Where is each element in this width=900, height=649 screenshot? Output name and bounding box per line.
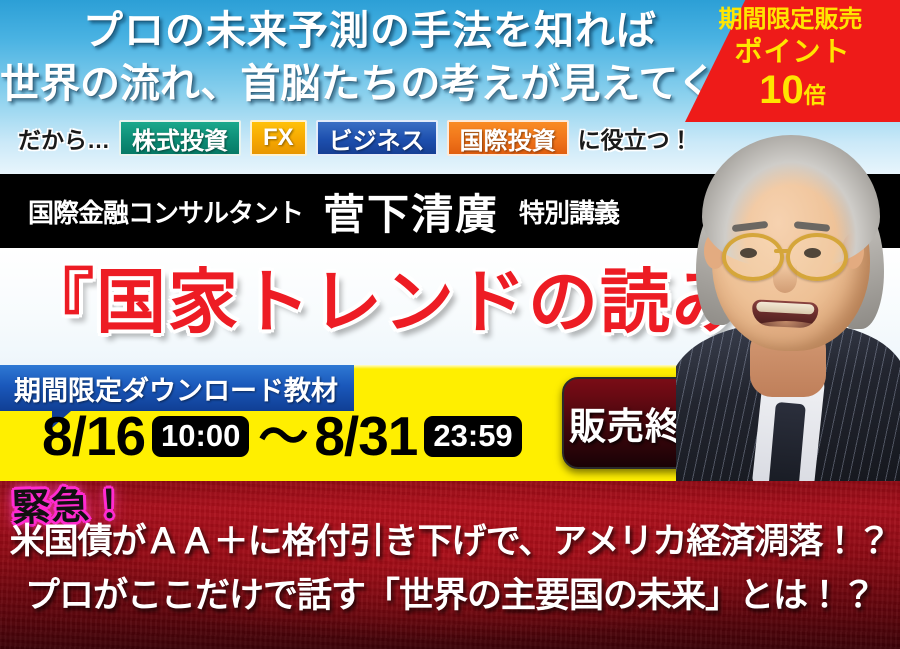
point-badge-line-1: 期間限定販売 (685, 8, 896, 32)
point-badge-line-2: ポイント (685, 38, 900, 66)
headline: プロの未来予測の手法を知れば 世界の流れ、首脳たちの考えが見えてくる！ (0, 4, 740, 110)
offer-start-date: 8/16 (42, 409, 145, 464)
speaker-name: 菅下清廣 (323, 181, 499, 242)
category-tag-row: だから… 株式投資 FX ビジネス 国際投資 に役立つ！ (18, 118, 693, 158)
tag-business[interactable]: ビジネス (316, 120, 438, 156)
portrait-teeth (756, 301, 814, 314)
footer-section: 緊急！ 米国債がＡＡ＋に格付引き下げで、アメリカ経済凋落！？ プロがここだけで話… (0, 481, 900, 649)
speaker-lecture-label: 特別講義 (519, 193, 619, 230)
offer-period-dates: 8/16 10:00 〜 8/31 23:59 (42, 409, 524, 464)
tag-fx[interactable]: FX (250, 120, 307, 156)
promo-banner: プロの未来予測の手法を知れば 世界の流れ、首脳たちの考えが見えてくる！ 期間限定… (0, 0, 900, 649)
point-badge-amount: 10 (759, 68, 804, 112)
footer-copy: 米国債がＡＡ＋に格付引き下げで、アメリカ経済凋落！？ プロがここだけで話す「世界… (0, 515, 900, 623)
product-title: 『国家トレンドの読み方』 (24, 256, 724, 352)
tag-international-investment[interactable]: 国際投資 (447, 120, 569, 156)
footer-line-2: プロがここだけで話す「世界の主要国の未来」とは！？ (0, 569, 900, 623)
point-campaign-badge: 期間限定販売 ポイント 10倍 (685, 0, 900, 122)
headline-line-1: プロの未来予測の手法を知れば (0, 4, 740, 57)
offer-end-date: 8/31 (314, 409, 417, 464)
headline-line-2: 世界の流れ、首脳たちの考えが見えてくる！ (0, 57, 740, 110)
point-badge-amount-row: 10倍 (685, 70, 900, 110)
portrait-glasses-bridge (774, 249, 790, 253)
offer-end-time: 23:59 (424, 416, 521, 457)
offer-start-time: 10:00 (152, 416, 249, 457)
speaker-portrait (676, 115, 900, 481)
tag-row-prefix: だから… (18, 121, 110, 155)
speaker-title: 国際金融コンサルタント (28, 193, 303, 230)
offer-date-separator: 〜 (258, 412, 307, 462)
portrait-chin (742, 321, 830, 349)
point-badge-suffix: 倍 (804, 83, 826, 108)
tag-stock-investment[interactable]: 株式投資 (119, 120, 241, 156)
footer-line-1: 米国債がＡＡ＋に格付引き下げで、アメリカ経済凋落！？ (0, 515, 900, 569)
portrait-nose (773, 265, 797, 293)
